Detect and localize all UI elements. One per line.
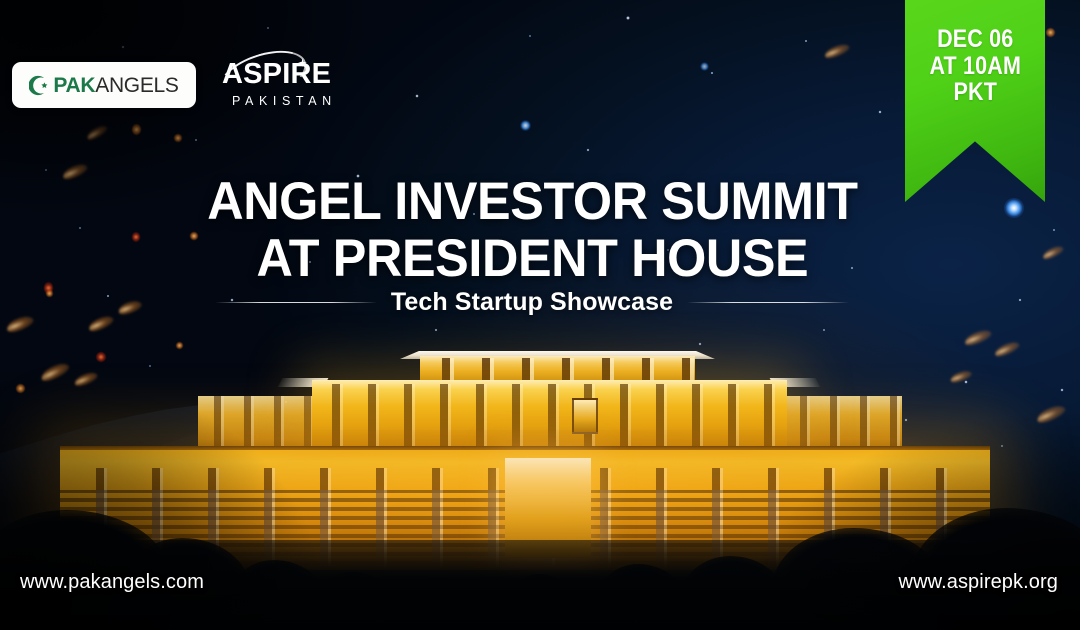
event-poster: PAKANGELS ASPIRE PAKISTAN DEC 06 AT 10AM…	[0, 0, 1080, 630]
building-main-columns	[312, 384, 787, 454]
ribbon-timezone-line: PKT	[929, 79, 1021, 106]
building-center-window	[572, 398, 598, 434]
aspire-website-url[interactable]: www.aspirepk.org	[899, 571, 1058, 594]
divider-rule-left	[215, 302, 377, 304]
ribbon-text-block: DEC 06 AT 10AM PKT	[929, 26, 1021, 106]
ribbon-date-line: DEC 06	[929, 26, 1021, 53]
ribbon-time-line: AT 10AM	[929, 53, 1021, 80]
divider-rule-right	[687, 302, 849, 304]
pakangels-website-url[interactable]: www.pakangels.com	[20, 571, 204, 594]
aspire-pakistan-logo[interactable]: ASPIRE PAKISTAN	[222, 58, 342, 114]
aspire-subtext: PAKISTAN	[232, 94, 337, 108]
crescent-star-icon	[29, 75, 50, 96]
pakangels-logo[interactable]: PAKANGELS	[12, 62, 196, 108]
aspire-wordmark: ASPIRE	[222, 60, 331, 89]
bright-star-icon	[700, 62, 709, 71]
subtitle-row: Tech Startup Showcase	[0, 288, 1080, 317]
president-house-building	[0, 340, 1080, 570]
pakangels-wordmark: PAKANGELS	[53, 75, 178, 96]
subtitle: Tech Startup Showcase	[391, 288, 673, 317]
pakangels-word-pak: PAK	[53, 74, 95, 97]
bright-star-icon	[520, 120, 531, 131]
headline-line-2: AT PRESIDENT HOUSE	[27, 231, 1038, 288]
page-title: ANGEL INVESTOR SUMMIT AT PRESIDENT HOUSE	[27, 174, 1053, 287]
headline-line-1: ANGEL INVESTOR SUMMIT	[27, 174, 1038, 231]
building-attic-columns	[420, 358, 695, 382]
pakangels-word-angels: ANGELS	[95, 74, 178, 97]
